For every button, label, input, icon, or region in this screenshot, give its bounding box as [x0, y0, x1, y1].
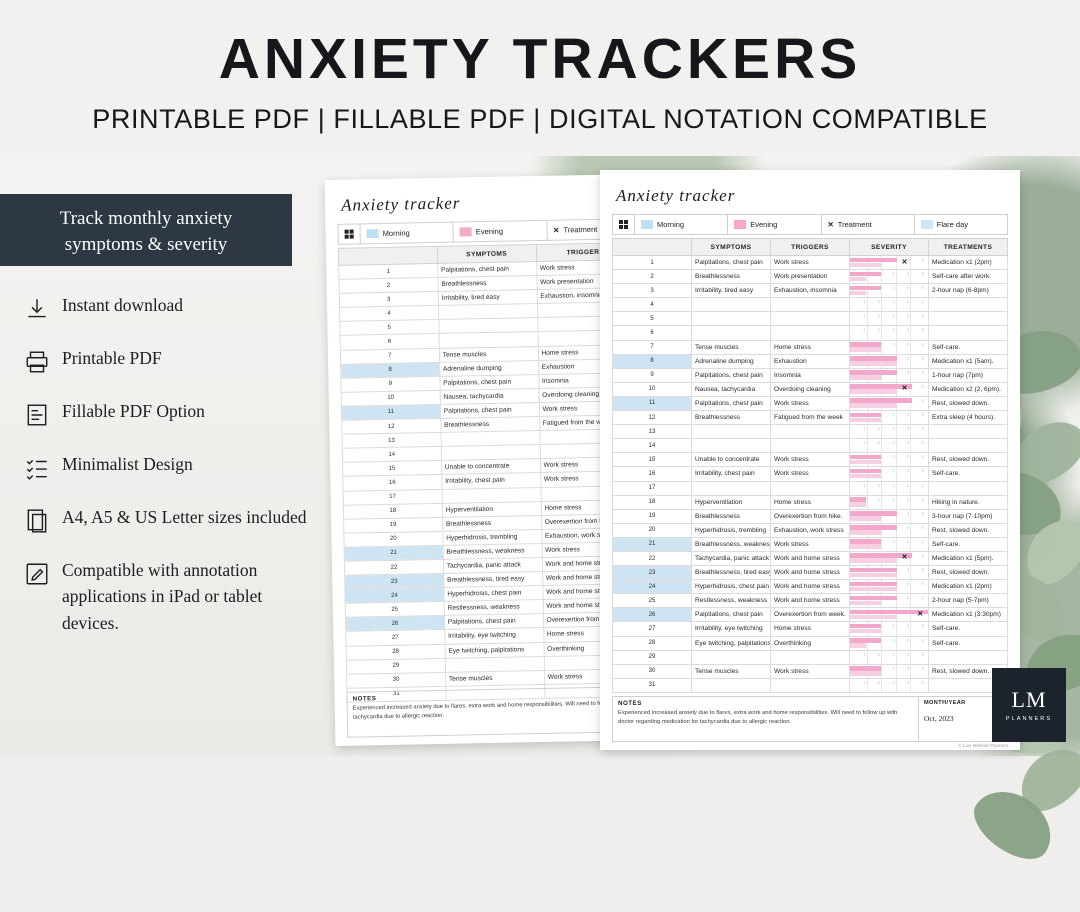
- severity-cell[interactable]: 5: [911, 284, 925, 297]
- severity-cell[interactable]: 4: [897, 326, 912, 339]
- severity-cell[interactable]: 4: [897, 538, 912, 551]
- severity-cell[interactable]: 1: [853, 298, 868, 311]
- cell-trigger[interactable]: Work and home stress: [771, 594, 850, 608]
- severity-cell[interactable]: 4: [897, 369, 912, 382]
- cell-severity[interactable]: 12345: [850, 580, 929, 594]
- severity-cells[interactable]: 12345: [853, 312, 925, 325]
- severity-cell[interactable]: 5: [911, 566, 925, 579]
- cell-treatment[interactable]: [929, 425, 1008, 439]
- cell-severity[interactable]: 12345✕: [850, 551, 929, 565]
- cell-trigger[interactable]: [771, 439, 850, 453]
- table-row[interactable]: 3Irritability, tired easyExhaustion, ins…: [613, 284, 1008, 298]
- severity-cell[interactable]: 4: [897, 510, 912, 523]
- severity-cell[interactable]: 5: [911, 341, 925, 354]
- table-row[interactable]: 28Eye twitching, palpitationsOverthinkin…: [613, 636, 1008, 650]
- cell-trigger[interactable]: [771, 678, 850, 692]
- cell-symptom[interactable]: Tense muscles: [692, 664, 771, 678]
- severity-cell[interactable]: 5: [911, 397, 925, 410]
- cell-severity[interactable]: 12345: [850, 396, 929, 410]
- cell-symptom[interactable]: [692, 326, 771, 340]
- cell-trigger[interactable]: Work stress: [771, 537, 850, 551]
- cell-trigger[interactable]: Work stress: [771, 664, 850, 678]
- table-row[interactable]: 1Palpitations, chest painWork stress1234…: [613, 256, 1008, 270]
- table-row[interactable]: 9Palpitations, chest painInsomnia123451-…: [613, 368, 1008, 382]
- table-row[interactable]: 1412345: [613, 439, 1008, 453]
- cell-severity[interactable]: 12345: [850, 425, 929, 439]
- severity-tick: 4: [907, 412, 910, 417]
- cell-treatment[interactable]: Medication x1 (2pm): [929, 256, 1008, 270]
- severity-cell[interactable]: 3: [882, 341, 897, 354]
- severity-tick: 1: [863, 426, 866, 431]
- severity-tick: 2: [878, 299, 881, 304]
- severity-cell[interactable]: 4: [897, 566, 912, 579]
- cell-trigger[interactable]: Work stress: [771, 467, 850, 481]
- severity-cell[interactable]: 3: [882, 482, 897, 495]
- severity-cell[interactable]: 5: [911, 510, 925, 523]
- severity-tick: 4: [907, 511, 910, 516]
- cell-trigger[interactable]: Fatigued from the week: [771, 411, 850, 425]
- cell-severity[interactable]: 12345: [850, 537, 929, 551]
- severity-cell[interactable]: 5: [911, 298, 925, 311]
- cell-symptom[interactable]: Palpitations, chest pain: [692, 256, 771, 270]
- severity-cell[interactable]: 5: [911, 580, 925, 593]
- table-row[interactable]: 21Breathlessness, weaknessWork stress123…: [613, 537, 1008, 551]
- morning-bar: [850, 601, 881, 606]
- severity-tick: 2: [878, 497, 881, 502]
- severity-cell[interactable]: 3: [882, 312, 897, 325]
- cell-treatment[interactable]: Rest, slowed down.: [929, 396, 1008, 410]
- cell-symptom[interactable]: Adrenaline dumping: [692, 354, 771, 368]
- cell-treatment[interactable]: Self-care.: [929, 537, 1008, 551]
- cell-trigger[interactable]: Overexertion from hike.: [771, 509, 850, 523]
- severity-tick: 2: [878, 680, 881, 685]
- severity-cell[interactable]: 1: [853, 425, 868, 438]
- severity-tick: 5: [921, 257, 924, 262]
- feature-paper-sizes: A4, A5 & US Letter sizes included: [18, 504, 318, 538]
- table-row[interactable]: 512345: [613, 312, 1008, 326]
- severity-cell[interactable]: 3: [882, 453, 897, 466]
- cell-treatment[interactable]: 1-hour nap (7pm): [929, 368, 1008, 382]
- table-row[interactable]: 2912345: [613, 650, 1008, 664]
- cell-treatment[interactable]: Extra sleep (4 hours).: [929, 411, 1008, 425]
- cell-symptom[interactable]: Hyperventilation: [692, 495, 771, 509]
- row-index: 31: [613, 678, 692, 692]
- severity-cell[interactable]: 3: [882, 622, 897, 635]
- cell-trigger[interactable]: Work and home stress: [771, 580, 850, 594]
- severity-cell[interactable]: 4: [897, 312, 912, 325]
- cell-treatment[interactable]: [929, 312, 1008, 326]
- cell-trigger[interactable]: Overdoing cleaning: [771, 382, 850, 396]
- severity-cell[interactable]: 4: [897, 411, 912, 424]
- cell-severity[interactable]: 12345: [850, 664, 929, 678]
- severity-tick: 4: [907, 539, 910, 544]
- evening-bar: [850, 356, 897, 361]
- table-row[interactable]: 27Irritability, eye twitchingHome stress…: [613, 622, 1008, 636]
- severity-cell[interactable]: 1: [853, 679, 868, 692]
- cell-trigger[interactable]: [771, 298, 850, 312]
- table-row[interactable]: 8Adrenaline dumpingExhaustion12345Medica…: [613, 354, 1008, 368]
- severity-cell[interactable]: 3: [882, 679, 897, 692]
- severity-cell[interactable]: 4: [897, 467, 912, 480]
- severity-tick: 4: [907, 440, 910, 445]
- table-row[interactable]: 19BreathlessnessOverexertion from hike.1…: [613, 509, 1008, 523]
- severity-cell[interactable]: 4: [897, 594, 912, 607]
- severity-cell[interactable]: 5: [911, 467, 925, 480]
- severity-cell[interactable]: 1: [853, 651, 868, 664]
- morning-bar: [850, 558, 897, 563]
- promo-line-2: symptoms & severity: [0, 232, 292, 258]
- cell-trigger[interactable]: Work and home stress: [771, 551, 850, 565]
- cell-severity[interactable]: 12345: [850, 354, 929, 368]
- severity-cell[interactable]: 5: [911, 679, 925, 692]
- morning-swatch: [367, 229, 379, 238]
- cell-trigger[interactable]: [771, 312, 850, 326]
- cell-trigger[interactable]: Overthinking: [771, 636, 850, 650]
- cell-trigger[interactable]: [771, 326, 850, 340]
- severity-cell[interactable]: 4: [897, 439, 912, 452]
- cell-symptom[interactable]: [692, 312, 771, 326]
- severity-cells[interactable]: 12345: [853, 482, 925, 495]
- cell-treatment[interactable]: 2-hour nap (5-7pm): [929, 594, 1008, 608]
- severity-cells[interactable]: 12345: [853, 425, 925, 438]
- severity-tick: 3: [892, 539, 895, 544]
- cell-severity[interactable]: 12345: [850, 678, 929, 692]
- feature-printable-pdf: Printable PDF: [18, 345, 318, 379]
- severity-cell[interactable]: 5: [911, 425, 925, 438]
- severity-cell[interactable]: 2: [868, 425, 883, 438]
- cell-severity[interactable]: 12345✕: [850, 608, 929, 622]
- severity-cell[interactable]: 2: [868, 439, 883, 452]
- cell-treatment[interactable]: [929, 298, 1008, 312]
- severity-tick: 4: [907, 638, 910, 643]
- severity-cell[interactable]: 4: [897, 637, 912, 650]
- cell-trigger[interactable]: Home stress: [771, 495, 850, 509]
- severity-cell[interactable]: 5: [911, 326, 925, 339]
- cell-treatment[interactable]: Medication x1 (5pm).: [929, 551, 1008, 565]
- severity-cell[interactable]: 5: [911, 369, 925, 382]
- table-row[interactable]: 1312345: [613, 425, 1008, 439]
- table-row[interactable]: 10Nausea, tachycardiaOverdoing cleaning1…: [613, 382, 1008, 396]
- cell-severity[interactable]: 12345: [850, 622, 929, 636]
- severity-cell[interactable]: 5: [911, 256, 925, 269]
- cell-symptom[interactable]: Breathlessness, weakness: [692, 537, 771, 551]
- cell-symptom[interactable]: Breathlessness: [692, 270, 771, 284]
- severity-cell[interactable]: 3: [882, 411, 897, 424]
- table-row[interactable]: 25Restlessness, weaknessWork and home st…: [613, 594, 1008, 608]
- cell-symptom[interactable]: Palpitations, chest pain: [692, 396, 771, 410]
- severity-cell[interactable]: 5: [911, 496, 925, 509]
- severity-cell[interactable]: 5: [911, 312, 925, 325]
- cell-treatment[interactable]: [929, 326, 1008, 340]
- cell-treatment[interactable]: Self-care after work.: [929, 270, 1008, 284]
- table-row[interactable]: 22Tachycardia, panic attackWork and home…: [613, 551, 1008, 565]
- severity-cell[interactable]: 3: [882, 467, 897, 480]
- severity-tick: 4: [907, 666, 910, 671]
- cell-severity[interactable]: 12345: [850, 298, 929, 312]
- cell-symptom[interactable]: [692, 678, 771, 692]
- col-severity: SEVERITY: [850, 239, 929, 256]
- cell-treatment[interactable]: Rest, slowed down.: [929, 566, 1008, 580]
- cell-symptom[interactable]: Palpitations, chest pain: [692, 368, 771, 382]
- cell-trigger[interactable]: Work stress: [771, 453, 850, 467]
- severity-cell[interactable]: 2: [868, 496, 883, 509]
- printer-icon: [18, 345, 56, 379]
- cell-symptom[interactable]: Tachycardia, panic attack: [692, 551, 771, 565]
- severity-cell[interactable]: 2: [868, 651, 883, 664]
- severity-cell[interactable]: 4: [897, 580, 912, 593]
- cell-severity[interactable]: 12345: [850, 284, 929, 298]
- evening-bar: [850, 413, 881, 418]
- severity-cells[interactable]: 12345: [853, 326, 925, 339]
- severity-cell[interactable]: 3: [882, 538, 897, 551]
- severity-cell[interactable]: 4: [897, 622, 912, 635]
- severity-cell[interactable]: 3: [882, 425, 897, 438]
- severity-cell[interactable]: 5: [911, 552, 925, 565]
- table-row[interactable]: 1712345: [613, 481, 1008, 495]
- cell-severity[interactable]: 12345: [850, 636, 929, 650]
- cell-treatment[interactable]: 2-hour nap (6-8pm): [929, 284, 1008, 298]
- table-row[interactable]: 15Unable to concentrateWork stress12345R…: [613, 453, 1008, 467]
- table-row[interactable]: 30Tense musclesWork stress12345Rest, slo…: [613, 664, 1008, 678]
- cell-severity[interactable]: 12345: [850, 411, 929, 425]
- table-row[interactable]: 3112345: [613, 678, 1008, 692]
- severity-cell[interactable]: 4: [897, 355, 912, 368]
- severity-cell[interactable]: 4: [897, 284, 912, 297]
- cell-symptom[interactable]: Restlessness, weakness: [692, 594, 771, 608]
- cell-trigger[interactable]: Home stress: [771, 622, 850, 636]
- anxiety-tracker-sheet-front[interactable]: Anxiety tracker Morning Evening ✕ Treatm…: [600, 170, 1020, 750]
- severity-cell[interactable]: 4: [897, 270, 912, 283]
- cell-treatment[interactable]: Medication x2 (2, 6pm).: [929, 382, 1008, 396]
- severity-cell[interactable]: 4: [897, 341, 912, 354]
- severity-cell[interactable]: 2: [868, 312, 883, 325]
- feature-fillable-pdf: Fillable PDF Option: [18, 398, 318, 432]
- severity-tick: 4: [907, 497, 910, 502]
- severity-cell[interactable]: 3: [882, 665, 897, 678]
- cell-symptom[interactable]: [692, 298, 771, 312]
- cell-trigger[interactable]: Home stress: [771, 340, 850, 354]
- severity-tick: 5: [921, 497, 924, 502]
- cell-severity[interactable]: 12345: [850, 340, 929, 354]
- table-row[interactable]: 24Hyperhidrosis, chest painWork and home…: [613, 580, 1008, 594]
- severity-cell[interactable]: 3: [882, 298, 897, 311]
- severity-cell[interactable]: 1: [853, 439, 868, 452]
- cell-severity[interactable]: 12345: [850, 495, 929, 509]
- severity-cells[interactable]: 12345: [853, 651, 925, 664]
- morning-bar: [850, 418, 881, 423]
- severity-cell[interactable]: 5: [911, 524, 925, 537]
- morning-bar: [850, 263, 881, 268]
- table-row[interactable]: 23Breathlessness, tired easyWork and hom…: [613, 566, 1008, 580]
- cell-symptom[interactable]: Irritability, chest pain: [692, 467, 771, 481]
- severity-cell[interactable]: 4: [897, 298, 912, 311]
- severity-cell[interactable]: 5: [911, 439, 925, 452]
- credit-text: © Live Minimal Planners: [958, 743, 1008, 748]
- severity-cell[interactable]: 5: [911, 594, 925, 607]
- severity-cell[interactable]: 2: [868, 482, 883, 495]
- cell-treatment[interactable]: Self-care.: [929, 622, 1008, 636]
- severity-cell[interactable]: 5: [911, 383, 925, 396]
- severity-cell[interactable]: 4: [897, 425, 912, 438]
- severity-cell[interactable]: 5: [911, 665, 925, 678]
- severity-cell[interactable]: 3: [882, 439, 897, 452]
- grid-icon: [345, 230, 354, 239]
- table-row[interactable]: 16Irritability, chest painWork stress123…: [613, 467, 1008, 481]
- cell-symptom[interactable]: [692, 481, 771, 495]
- table-row[interactable]: 12BreathlessnessFatigued from the week12…: [613, 411, 1008, 425]
- cell-severity[interactable]: 12345: [850, 594, 929, 608]
- cell-severity[interactable]: 12345: [850, 566, 929, 580]
- cell-symptom[interactable]: Nausea, tachycardia: [692, 382, 771, 396]
- severity-cell[interactable]: 5: [911, 538, 925, 551]
- severity-cell[interactable]: 5: [911, 651, 925, 664]
- severity-cell[interactable]: 4: [897, 453, 912, 466]
- severity-cell[interactable]: 4: [897, 651, 912, 664]
- severity-cell[interactable]: 1: [853, 482, 868, 495]
- cell-trigger[interactable]: Insomnia: [771, 368, 850, 382]
- table-row[interactable]: 18HyperventilationHome stress12345Hiking…: [613, 495, 1008, 509]
- cell-symptom[interactable]: Hyperhidrosis, chest pain: [692, 580, 771, 594]
- cell-treatment[interactable]: Hiking in nature.: [929, 495, 1008, 509]
- cell-trigger[interactable]: Work stress: [771, 256, 850, 270]
- severity-tick: 3: [892, 313, 895, 318]
- cell-severity[interactable]: 12345: [850, 270, 929, 284]
- cell-symptom[interactable]: Unable to concentrate: [692, 453, 771, 467]
- cell-treatment[interactable]: Medication x1 (3:30pm): [929, 608, 1008, 622]
- cell-treatment[interactable]: Rest, slowed down.: [929, 523, 1008, 537]
- cell-trigger[interactable]: Work stress: [771, 396, 850, 410]
- legend-grid-icon-cell: [613, 215, 635, 234]
- cell-treatment[interactable]: Self-care.: [929, 340, 1008, 354]
- cell-severity[interactable]: 12345✕: [850, 382, 929, 396]
- cell-treatment[interactable]: [929, 481, 1008, 495]
- cell-severity[interactable]: 12345: [850, 650, 929, 664]
- cell-trigger[interactable]: Exhaustion, work stress: [771, 523, 850, 537]
- feature-label: A4, A5 & US Letter sizes included: [56, 504, 308, 530]
- feature-label: Compatible with annotation applications …: [56, 557, 308, 636]
- cell-treatment[interactable]: Medication x1 (5am).: [929, 354, 1008, 368]
- severity-tick: 4: [907, 525, 910, 530]
- severity-cell[interactable]: 4: [897, 679, 912, 692]
- severity-cell[interactable]: 5: [911, 411, 925, 424]
- severity-cells[interactable]: 12345: [853, 679, 925, 692]
- cell-symptom[interactable]: Breathlessness: [692, 509, 771, 523]
- severity-cell[interactable]: 4: [897, 524, 912, 537]
- severity-tick: 1: [863, 440, 866, 445]
- severity-cell[interactable]: 5: [911, 637, 925, 650]
- cell-severity[interactable]: 12345: [850, 368, 929, 382]
- severity-cell[interactable]: 2: [868, 679, 883, 692]
- cell-treatment[interactable]: 3-hour nap (7-10pm): [929, 509, 1008, 523]
- cell-symptom[interactable]: Breathlessness: [692, 411, 771, 425]
- severity-cell[interactable]: 2: [868, 298, 883, 311]
- table-row[interactable]: 612345: [613, 326, 1008, 340]
- row-index: 11: [613, 396, 692, 410]
- cell-treatment[interactable]: Self-care.: [929, 467, 1008, 481]
- severity-tick: 2: [878, 426, 881, 431]
- cell-severity[interactable]: 12345: [850, 523, 929, 537]
- evening-bar: [850, 286, 881, 291]
- severity-cell[interactable]: 1: [853, 326, 868, 339]
- notes-box-front[interactable]: NOTES Experienced increased anxiety due …: [612, 696, 1008, 742]
- cell-trigger[interactable]: [771, 481, 850, 495]
- severity-cell[interactable]: 3: [882, 496, 897, 509]
- severity-cell[interactable]: 4: [897, 665, 912, 678]
- cell-severity[interactable]: 12345: [850, 453, 929, 467]
- severity-cell[interactable]: 3: [882, 651, 897, 664]
- cell-symptom[interactable]: [692, 425, 771, 439]
- cell-trigger[interactable]: Work presentation: [771, 270, 850, 284]
- cell-severity[interactable]: 12345✕: [850, 256, 929, 270]
- severity-cell[interactable]: 2: [868, 326, 883, 339]
- cell-treatment[interactable]: Rest, slowed down.: [929, 453, 1008, 467]
- severity-cell[interactable]: 5: [911, 270, 925, 283]
- severity-cells[interactable]: 12345: [853, 298, 925, 311]
- cell-severity[interactable]: 12345: [850, 481, 929, 495]
- cell-severity[interactable]: 12345: [850, 467, 929, 481]
- cell-trigger[interactable]: [771, 425, 850, 439]
- cell-severity[interactable]: 12345: [850, 439, 929, 453]
- severity-cell[interactable]: 5: [911, 482, 925, 495]
- cell-symptom[interactable]: Irritability, eye twitching: [692, 622, 771, 636]
- severity-tick: 1: [863, 327, 866, 332]
- severity-cell[interactable]: 4: [897, 482, 912, 495]
- cell-severity[interactable]: 12345: [850, 509, 929, 523]
- cell-trigger[interactable]: Exhaustion: [771, 354, 850, 368]
- severity-tick: 5: [921, 553, 924, 558]
- cell-trigger[interactable]: Work and home stress: [771, 566, 850, 580]
- cell-trigger[interactable]: Exhaustion, insomnia: [771, 284, 850, 298]
- severity-cell[interactable]: 1: [853, 312, 868, 325]
- morning-bar: [850, 277, 866, 282]
- cell-symptom[interactable]: Palpitations, chest pain: [692, 608, 771, 622]
- cell-symptom[interactable]: Breathlessness, tired easy: [692, 566, 771, 580]
- morning-bar: [850, 516, 881, 521]
- cell-severity[interactable]: 12345: [850, 312, 929, 326]
- cell-trigger[interactable]: Overexertion from week.: [771, 608, 850, 622]
- evening-bar: [850, 539, 881, 544]
- cell-trigger[interactable]: [771, 650, 850, 664]
- cell-symptom[interactable]: Tense muscles: [692, 340, 771, 354]
- severity-cell[interactable]: 5: [911, 453, 925, 466]
- severity-cell[interactable]: 3: [882, 637, 897, 650]
- cell-symptom[interactable]: Irritability, tired easy: [692, 284, 771, 298]
- severity-cell[interactable]: 3: [882, 326, 897, 339]
- cell-symptom[interactable]: [692, 650, 771, 664]
- severity-cell[interactable]: 3: [882, 284, 897, 297]
- table-row[interactable]: 11Palpitations, chest painWork stress123…: [613, 396, 1008, 410]
- cell-treatment[interactable]: [929, 439, 1008, 453]
- cell-symptom[interactable]: Hyperhidrosis, trembling: [692, 523, 771, 537]
- severity-cell[interactable]: 4: [897, 496, 912, 509]
- table-row[interactable]: 2BreathlessnessWork presentation12345Sel…: [613, 270, 1008, 284]
- cell-symptom[interactable]: [692, 439, 771, 453]
- cell-treatment[interactable]: [929, 650, 1008, 664]
- cell-severity[interactable]: 12345: [850, 326, 929, 340]
- cell-symptom[interactable]: Eye twitching, palpitations: [692, 636, 771, 650]
- severity-cells[interactable]: 12345: [853, 439, 925, 452]
- table-row[interactable]: 412345: [613, 298, 1008, 312]
- cell-treatment[interactable]: Medication x1 (2pm): [929, 580, 1008, 594]
- cell-treatment[interactable]: Self-care.: [929, 636, 1008, 650]
- tracker-table-front[interactable]: SYMPTOMS TRIGGERS SEVERITY TREATMENTS 1P…: [612, 238, 1008, 693]
- table-row[interactable]: 26Palpitations, chest painOverexertion f…: [613, 608, 1008, 622]
- severity-cell[interactable]: 3: [882, 270, 897, 283]
- table-row[interactable]: 20Hyperhidrosis, tremblingExhaustion, wo…: [613, 523, 1008, 537]
- severity-cell[interactable]: 5: [911, 355, 925, 368]
- severity-cell[interactable]: 5: [911, 622, 925, 635]
- table-row[interactable]: 7Tense musclesHome stress12345Self-care.: [613, 340, 1008, 354]
